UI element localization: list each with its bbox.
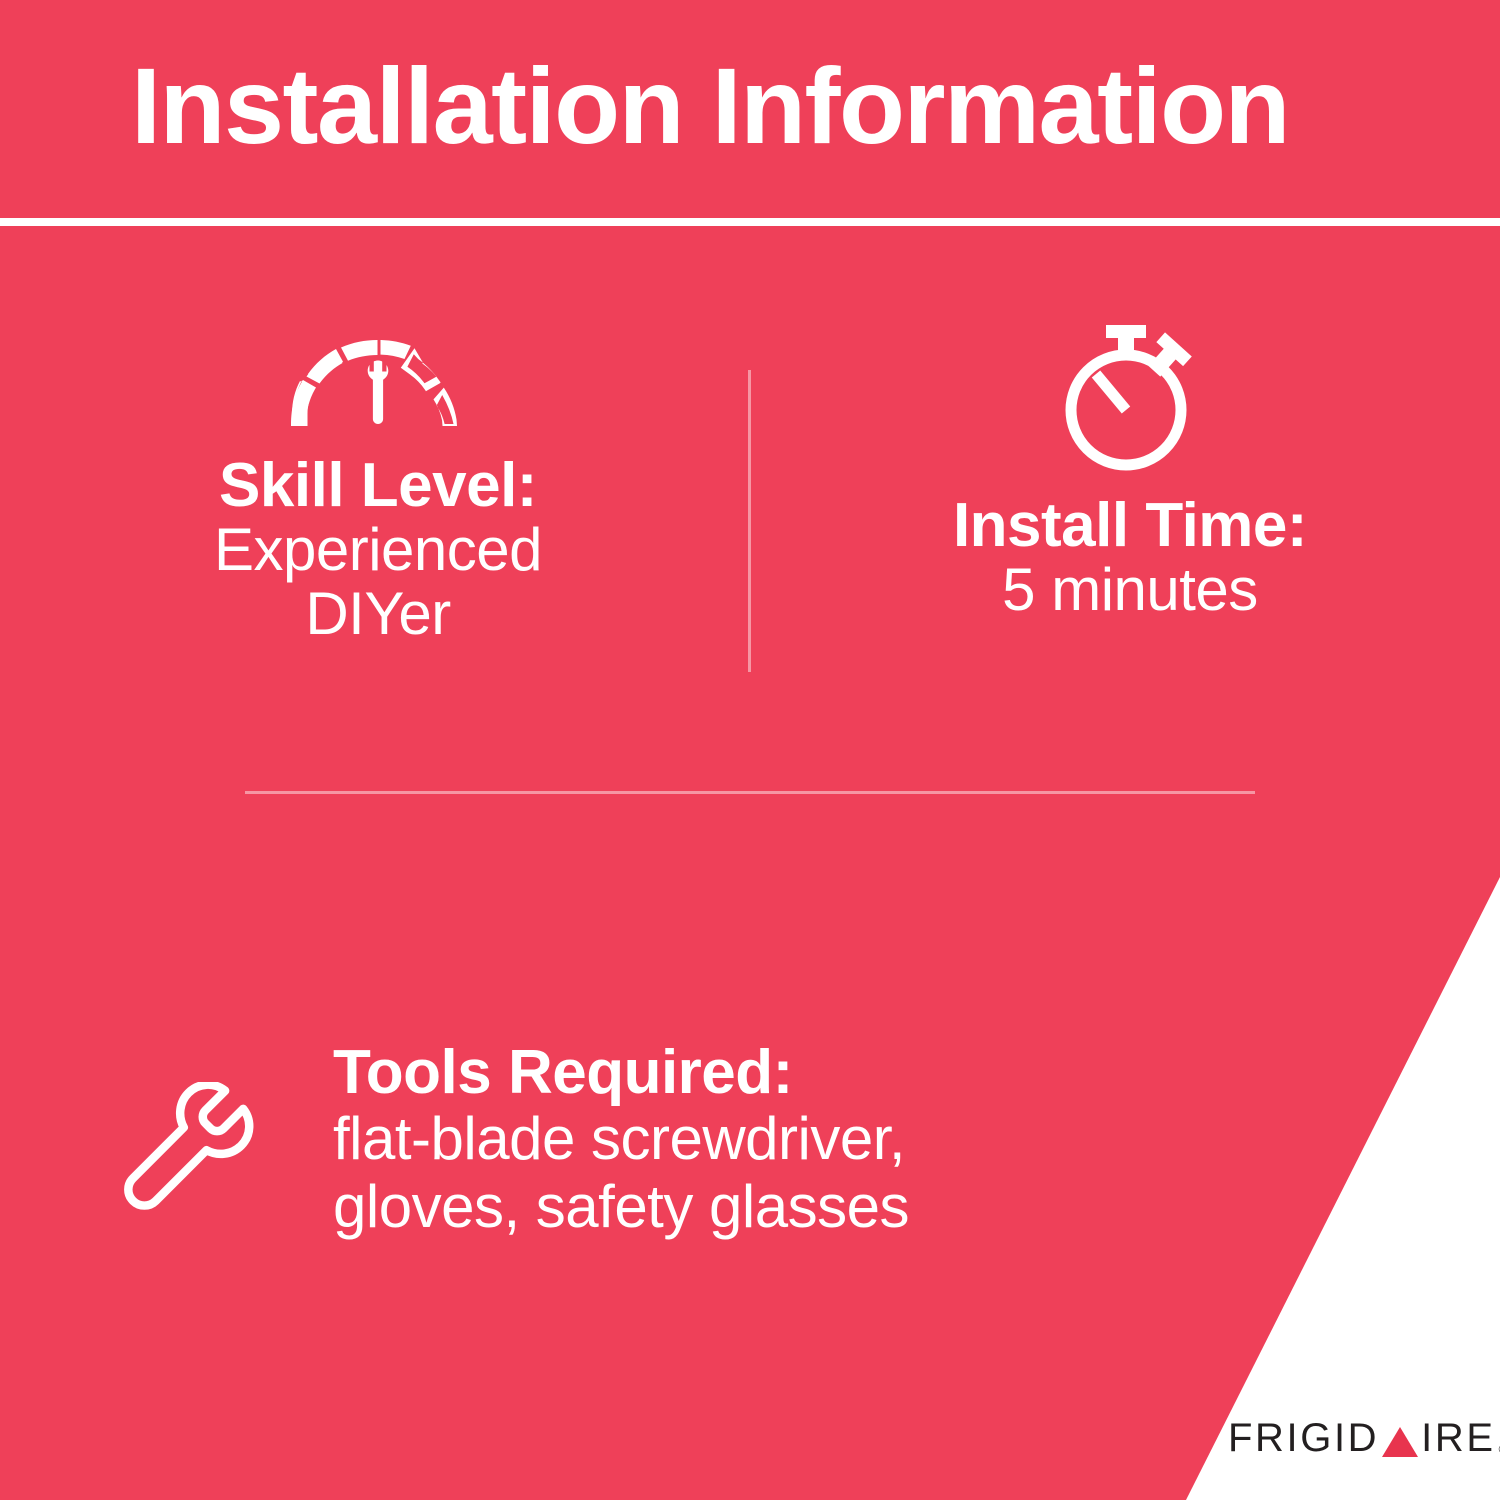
logo-wordmark-pre: FRIGID [1228, 1418, 1379, 1458]
vertical-divider [748, 370, 751, 672]
tools-required-text: Tools Required: flat-blade screwdriver, … [333, 1040, 1153, 1241]
frigidaire-logo: FRIGID IRE ® [1228, 1418, 1500, 1458]
header-band: Installation Information [0, 0, 1500, 218]
tools-required-line2: gloves, safety glasses [333, 1173, 1153, 1241]
skill-level-heading: Skill Level: [128, 454, 628, 518]
logo-wordmark-post: IRE [1421, 1418, 1495, 1458]
tools-required-heading: Tools Required: [333, 1040, 1153, 1105]
header-divider [0, 218, 1500, 226]
skill-level-value-line1: Experienced [128, 518, 628, 582]
skill-gauge-wrench-icon [290, 330, 466, 428]
skill-level-value-line2: DIYer [128, 582, 628, 646]
installation-information-infographic: Installation Information [0, 0, 1500, 1500]
stopwatch-icon [1056, 320, 1204, 472]
install-time-panel: Install Time: 5 minutes [880, 320, 1380, 622]
skill-level-panel: Skill Level: Experienced DIYer [128, 330, 628, 646]
install-time-value: 5 minutes [880, 558, 1380, 622]
wrench-icon [118, 1082, 254, 1212]
logo-triangle-icon [1382, 1427, 1418, 1457]
page-title: Installation Information [131, 48, 1289, 165]
install-time-heading: Install Time: [880, 494, 1380, 558]
tools-required-line1: flat-blade screwdriver, [333, 1105, 1153, 1173]
horizontal-divider [245, 791, 1255, 794]
